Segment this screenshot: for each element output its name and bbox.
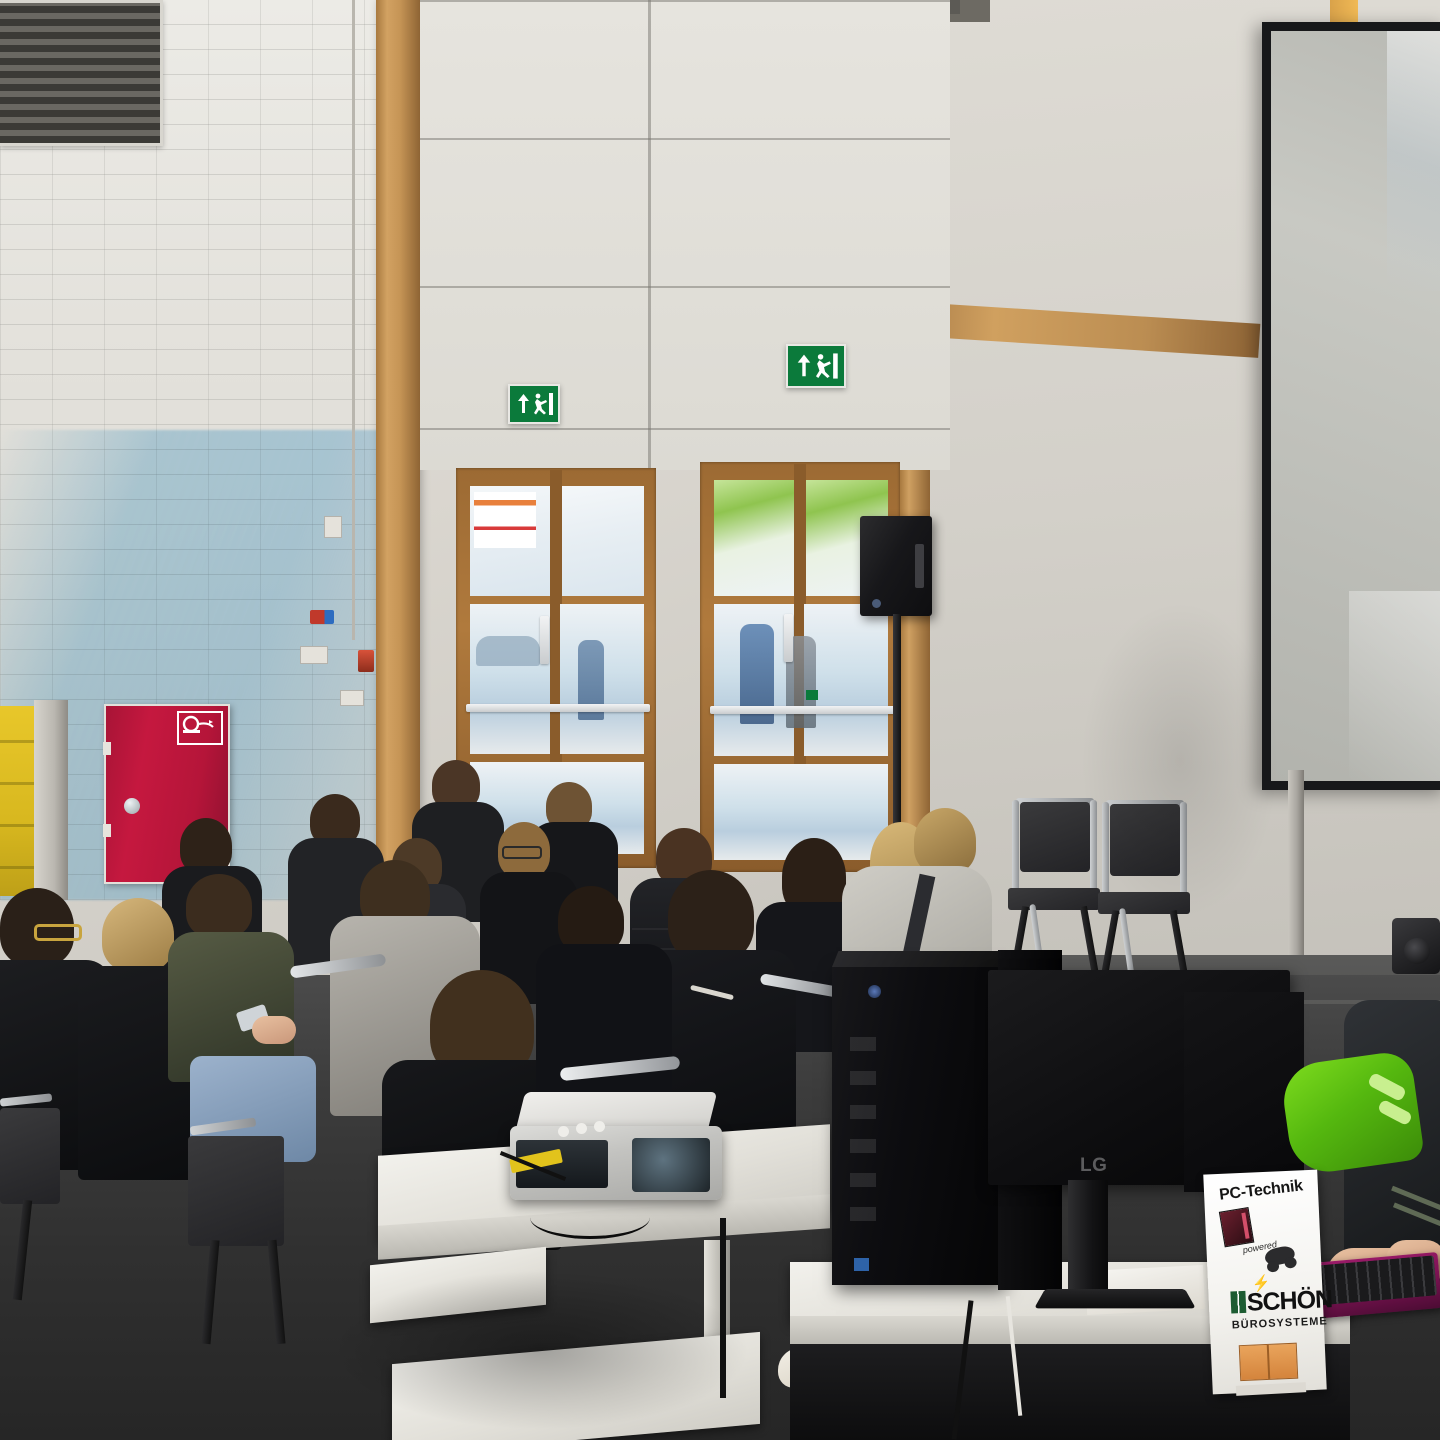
- panel-seam: [420, 286, 950, 288]
- wall-fitting-lower: [340, 690, 364, 706]
- fire-hose-reel-icon: [177, 711, 223, 745]
- glasses-icon: [34, 924, 82, 941]
- emergency-exit-sign-left: [508, 384, 560, 424]
- emergency-exit-sign-right: [786, 344, 846, 388]
- student-head: [668, 870, 754, 962]
- power-button-icon[interactable]: [868, 985, 881, 998]
- lg-logo: LG: [1080, 1155, 1107, 1177]
- panel-seam: [420, 428, 950, 430]
- camera-lens-icon: [1404, 938, 1430, 964]
- brand-subtitle: BÜROSYSTEME: [1232, 1315, 1328, 1331]
- door-glass-upper-right: [560, 486, 644, 596]
- pc-technik-sign: PC-Technik powered ⚡ SCHÖN BÜROSYSTEME: [1203, 1170, 1326, 1395]
- projector-lens: [632, 1138, 710, 1192]
- door-handle: [540, 616, 549, 664]
- hand: [252, 1016, 296, 1044]
- student-head: [914, 808, 976, 874]
- pc-vent-slots: [850, 1021, 876, 1221]
- wall-fitting: [300, 646, 328, 664]
- poster-behind-glass: [474, 492, 536, 548]
- monitor-stand-neck: [1068, 1180, 1108, 1298]
- open-book-icon: [1239, 1343, 1299, 1381]
- sign-title: PC-Technik: [1203, 1176, 1318, 1207]
- desktop-pc-tower: [832, 965, 1002, 1285]
- car-outside-silhouette: [476, 636, 540, 666]
- wooden-post: [376, 0, 420, 880]
- door-handle-2: [784, 614, 793, 662]
- speaker-handle: [915, 544, 924, 588]
- wall-conduit: [352, 0, 355, 640]
- door-glass-lower-left: [470, 604, 550, 754]
- panel-seam: [420, 0, 950, 2]
- panel-seam: [648, 0, 651, 470]
- pc-badge-sticker: [854, 1258, 869, 1271]
- door-handrail: [466, 704, 650, 712]
- door-knob[interactable]: [124, 798, 140, 814]
- pc-tower-top: [832, 951, 1008, 967]
- brand-name: SCHÖN: [1246, 1285, 1332, 1318]
- photo-scene: LG PC-Technik powered ⚡ SCHÖN BÜROSYSTEM…: [0, 0, 1440, 1440]
- wall-sticker: [310, 610, 334, 624]
- projection-screen: [1262, 22, 1440, 790]
- cable-loop: [530, 1196, 650, 1239]
- door-handrail-2: [710, 706, 896, 714]
- alarm-button[interactable]: [358, 650, 374, 672]
- glasses-icon: [502, 846, 542, 859]
- student-head-blond: [102, 898, 174, 972]
- upper-wall-segment: [420, 0, 950, 470]
- screen-glare-lower: [1349, 591, 1440, 781]
- wall-switch-box: [324, 516, 342, 538]
- projector-button[interactable]: [558, 1126, 569, 1137]
- pa-speaker: [860, 516, 932, 616]
- wall-shadow: [1080, 600, 1280, 920]
- student-head: [186, 874, 252, 938]
- panel-seam: [420, 138, 950, 140]
- chair-row-front[interactable]: [0, 1090, 420, 1290]
- projector-button[interactable]: [594, 1121, 605, 1132]
- door-glass-lower-right-2: [804, 604, 888, 756]
- speaker-led-icon: [872, 599, 881, 608]
- monitor-stand-base: [1034, 1289, 1196, 1308]
- screen-glare: [1387, 31, 1440, 291]
- small-exit-sticker: [806, 690, 818, 700]
- projector-button[interactable]: [576, 1123, 587, 1134]
- floor-shadow: [330, 1270, 750, 1430]
- pc-photo-icon: [1219, 1207, 1255, 1247]
- door-glass-upper-left-2: [714, 480, 794, 596]
- data-projector: [506, 1092, 724, 1210]
- ventilation-grille-icon: [0, 0, 163, 146]
- schoen-logo-mark: [1230, 1291, 1246, 1314]
